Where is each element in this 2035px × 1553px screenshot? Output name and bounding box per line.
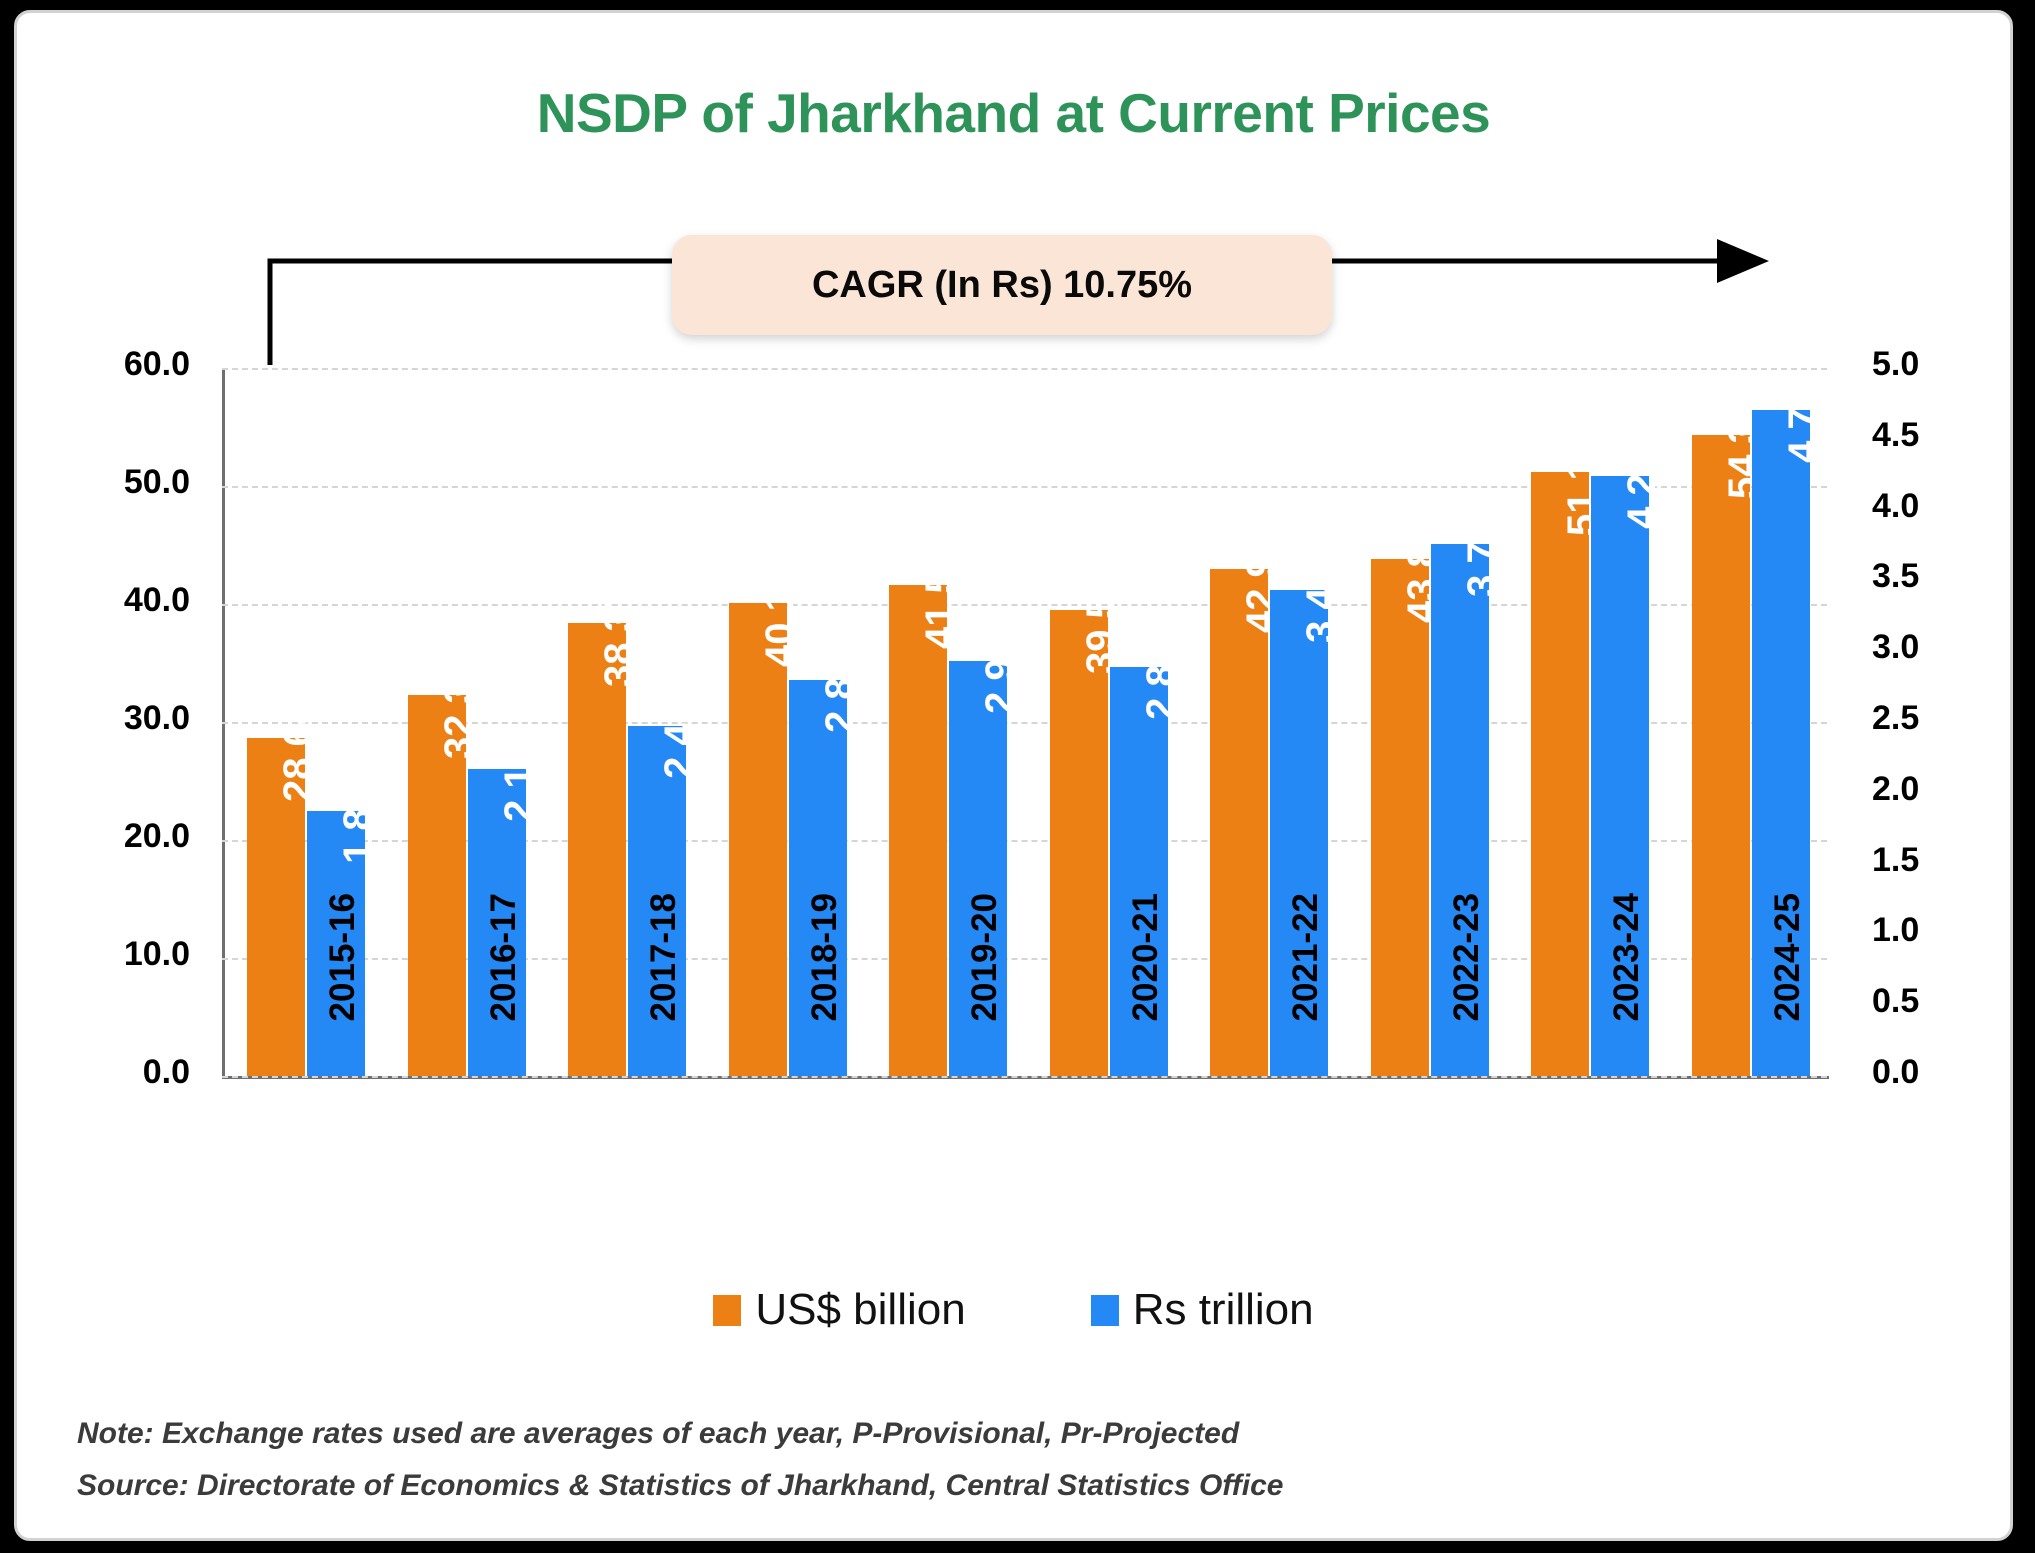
legend-item[interactable]: US$ billion xyxy=(713,1285,965,1335)
y-axis-right-tick: 4.0 xyxy=(1872,487,1919,526)
x-axis-tick: 2022-23 xyxy=(1447,893,1487,1093)
x-axis-tick: 2015-16 xyxy=(323,893,363,1093)
x-axis-tick: 2020-21 xyxy=(1126,893,1166,1093)
bar-usd[interactable]: 40.12 xyxy=(729,603,787,1076)
chart-canvas: NSDP of Jharkhand at Current Prices CAGR… xyxy=(17,13,2010,1538)
bar-value-label: 2.93 xyxy=(978,636,1023,714)
y-axis-right-tick: 3.0 xyxy=(1872,628,1919,667)
x-axis-tick: 2019-20 xyxy=(965,893,1005,1093)
x-axis-tick: 2018-19 xyxy=(805,893,845,1093)
x-axis-tick: 2016-17 xyxy=(484,893,524,1093)
y-axis-right-tick: 4.5 xyxy=(1872,416,1919,455)
bar-value-label: 3.76 xyxy=(1460,519,1505,597)
bar-usd[interactable]: 39.50 xyxy=(1050,610,1108,1076)
plot-area: 28.641.8732.312.1738.372.4740.122.8041.5… xyxy=(222,368,1827,1076)
y-axis-right-tick: 1.5 xyxy=(1872,841,1919,880)
cagr-label: CAGR (In Rs) 10.75% xyxy=(812,264,1192,307)
y-axis-left-tick: 50.0 xyxy=(124,463,190,502)
chart-legend: US$ billionRs trillion xyxy=(17,1285,2010,1335)
bar-value-label: 1.87 xyxy=(336,786,381,864)
bar-value-label: 2.17 xyxy=(497,744,542,822)
y-axis-left-tick: 10.0 xyxy=(124,935,190,974)
bar-value-label: 39.50 xyxy=(1079,574,1124,674)
bar-value-label: 2.89 xyxy=(1139,642,1184,720)
source-text: Source: Directorate of Economics & Stati… xyxy=(77,1460,1947,1512)
bar-usd[interactable]: 28.64 xyxy=(247,738,305,1076)
bar-value-label: 28.64 xyxy=(276,702,321,802)
y-axis-right-tick: 1.0 xyxy=(1872,911,1919,950)
bar-value-label: 40.12 xyxy=(758,567,803,667)
bar-usd[interactable]: 41.59 xyxy=(889,585,947,1076)
y-axis-right-tick: 0.0 xyxy=(1872,1053,1919,1092)
gridline xyxy=(222,1076,1827,1078)
y-axis-left-tick: 40.0 xyxy=(124,581,190,620)
bar-usd[interactable]: 54.31 xyxy=(1692,435,1750,1076)
note-text: Note: Exchange rates used are averages o… xyxy=(77,1408,1947,1460)
bar-usd[interactable]: 43.82 xyxy=(1371,559,1429,1076)
bar-usd[interactable]: 32.31 xyxy=(408,695,466,1076)
y-axis-right-tick: 3.5 xyxy=(1872,557,1919,596)
legend-label: Rs trillion xyxy=(1133,1285,1314,1335)
y-axis-right-tick: 2.5 xyxy=(1872,699,1919,738)
x-axis-tick: 2023-24 xyxy=(1607,893,1647,1093)
bar-value-label: 32.31 xyxy=(437,659,482,759)
bar-value-label: 2.47 xyxy=(657,701,702,779)
legend-item[interactable]: Rs trillion xyxy=(1091,1285,1314,1335)
x-axis-tick: 2017-18 xyxy=(644,893,684,1093)
footnotes: Note: Exchange rates used are averages o… xyxy=(77,1408,1947,1512)
bar-value-label: 38.37 xyxy=(597,587,642,687)
x-axis-tick: 2021-22 xyxy=(1286,893,1326,1093)
bar-usd[interactable]: 51.15 xyxy=(1531,472,1589,1076)
legend-swatch-icon xyxy=(713,1295,741,1326)
bar-value-label: 41.59 xyxy=(918,549,963,649)
legend-label: US$ billion xyxy=(755,1285,965,1335)
cagr-callout: CAGR (In Rs) 10.75% xyxy=(672,235,1332,335)
bar-usd[interactable]: 38.37 xyxy=(568,623,626,1076)
x-axis-tick: 2024-25 xyxy=(1768,893,1808,1093)
bar-usd[interactable]: 42.96 xyxy=(1210,569,1268,1076)
y-axis-left-tick: 0.0 xyxy=(143,1053,190,1092)
page-title: NSDP of Jharkhand at Current Prices xyxy=(17,81,2010,145)
y-axis-left-tick: 20.0 xyxy=(124,817,190,856)
y-axis-right-tick: 2.0 xyxy=(1872,770,1919,809)
y-axis-left-tick: 30.0 xyxy=(124,699,190,738)
bar-value-label: 3.43 xyxy=(1299,565,1344,643)
chart-card: NSDP of Jharkhand at Current Prices CAGR… xyxy=(14,10,2013,1541)
y-axis-right-tick: 0.5 xyxy=(1872,982,1919,1021)
bar-value-label: 2.80 xyxy=(818,655,863,733)
bar-value-label: 4.24 xyxy=(1620,451,1665,529)
legend-swatch-icon xyxy=(1091,1295,1119,1326)
